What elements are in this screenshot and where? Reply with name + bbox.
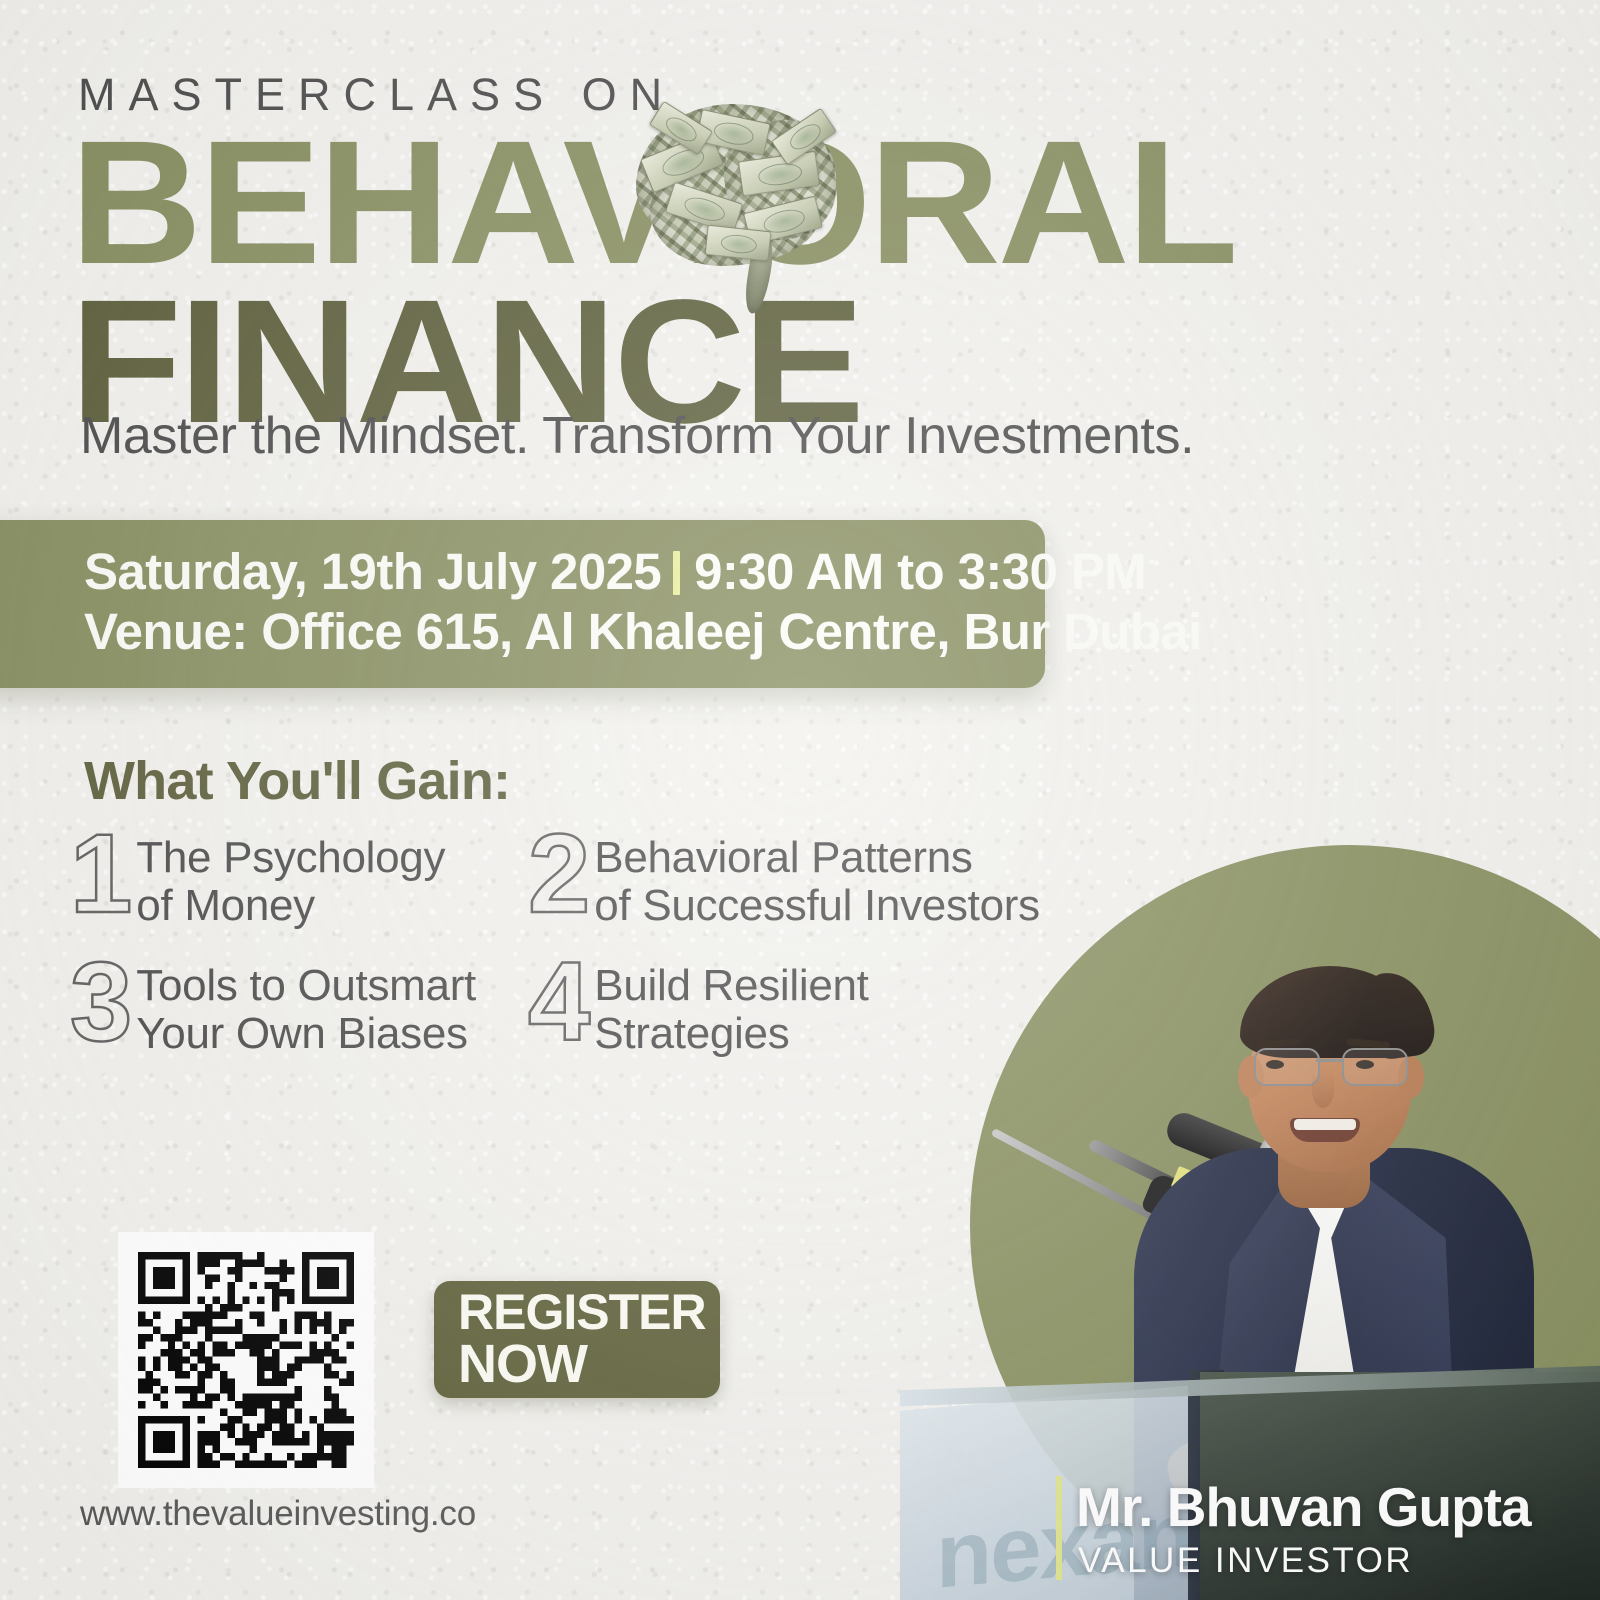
title-line-1: BEHAVIORAL	[70, 128, 1318, 279]
gain-label-2: Behavioral Patterns of Successful Invest…	[594, 828, 1040, 929]
event-time: 9:30 AM to 3:30 PM	[694, 543, 1146, 600]
gain-section-heading: What You'll Gain:	[84, 750, 510, 812]
gain-item-2: 2 Behavioral Patterns of Successful Inve…	[528, 828, 1088, 956]
speaker-nose	[1312, 1072, 1334, 1108]
gain-number-3: 3	[70, 950, 128, 1053]
gain-item-1: 1 The Psychology of Money	[70, 828, 528, 956]
speaker-teeth	[1294, 1119, 1356, 1130]
gain-item-3: 3 Tools to Outsmart Your Own Biases	[70, 956, 528, 1084]
website-url[interactable]: www.thevalueinvesting.co	[80, 1494, 476, 1534]
gain-items-grid: 1 The Psychology of Money 2 Behavioral P…	[70, 828, 1130, 1084]
glasses-bridge	[1316, 1059, 1342, 1062]
event-date: Saturday, 19th July 2025	[84, 543, 661, 600]
register-label-line2: NOW	[458, 1337, 720, 1391]
event-details-banner: Saturday, 19th July 20259:30 AM to 3:30 …	[0, 520, 1045, 688]
glasses-lens-left	[1254, 1048, 1320, 1086]
gain-label-3: Tools to Outsmart Your Own Biases	[136, 956, 476, 1057]
banner-date-time-row: Saturday, 19th July 20259:30 AM to 3:30 …	[84, 542, 1045, 602]
glasses-lens-right	[1342, 1048, 1408, 1086]
gain-label-1: The Psychology of Money	[136, 828, 445, 929]
speaker-mouth	[1290, 1118, 1360, 1142]
register-now-button[interactable]: REGISTER NOW	[434, 1281, 720, 1398]
divider-bar	[673, 551, 680, 595]
subtitle-text: Master the Mindset. Transform Your Inves…	[80, 406, 1194, 466]
speaker-name: Mr. Bhuvan Gupta	[1076, 1475, 1531, 1539]
speaker-name-accent-bar	[1056, 1476, 1062, 1580]
event-venue: Venue: Office 615, Al Khaleej Centre, Bu…	[84, 602, 1045, 662]
gain-number-1: 1	[70, 822, 128, 925]
register-label-line1: REGISTER	[458, 1288, 720, 1337]
gain-item-4: 4 Build Resilient Strategies	[528, 956, 1088, 1084]
gain-number-2: 2	[528, 822, 586, 925]
qr-code-canvas[interactable]	[138, 1252, 354, 1468]
speaker-role: VALUE INVESTOR	[1078, 1541, 1413, 1581]
gain-number-4: 4	[528, 950, 586, 1053]
gain-label-4: Build Resilient Strategies	[594, 956, 868, 1057]
poster-canvas: MASTERCLASS ON BEHAVIORAL FINANCE Master…	[0, 0, 1600, 1600]
qr-code[interactable]	[118, 1232, 374, 1488]
title-block: BEHAVIORAL FINANCE	[70, 128, 1270, 408]
